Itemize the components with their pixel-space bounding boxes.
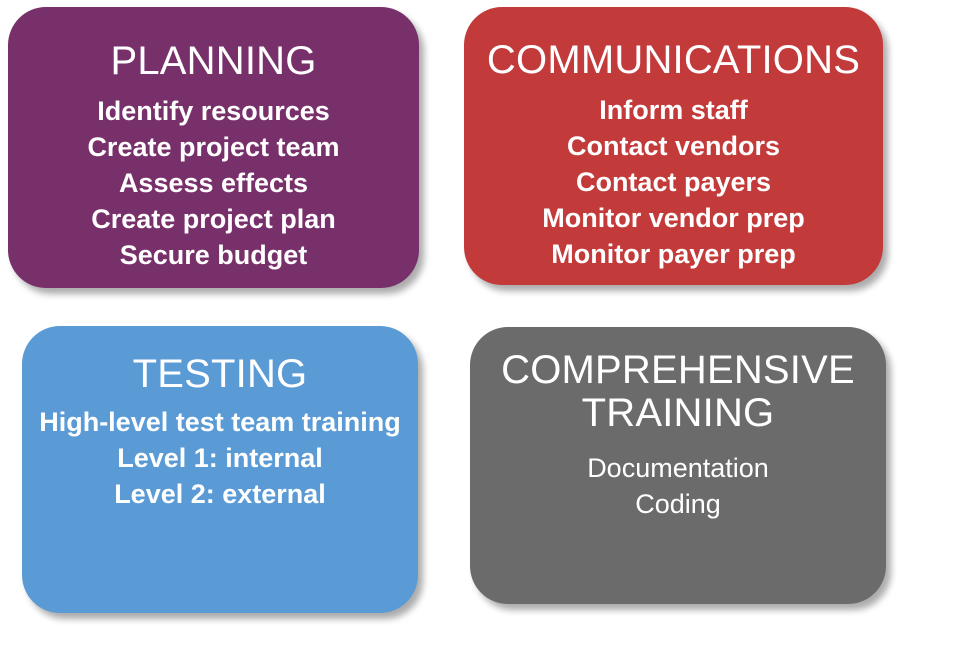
list-item: Create project plan [8, 202, 419, 238]
card-planning-title: PLANNING [8, 40, 419, 83]
list-item: Assess effects [8, 166, 419, 202]
list-item: Monitor payer prep [464, 237, 883, 273]
list-item: Contact payers [464, 165, 883, 201]
diagram-canvas: PLANNING Identify resourcesCreate projec… [0, 0, 968, 672]
card-testing-title: TESTING [22, 353, 418, 396]
list-item: Documentation [470, 451, 886, 487]
card-testing-items: High-level test team trainingLevel 1: in… [22, 405, 418, 513]
list-item: Secure budget [8, 238, 419, 274]
card-communications[interactable]: COMMUNICATIONS Inform staffContact vendo… [464, 7, 883, 285]
list-item: High-level test team training [22, 405, 418, 441]
list-item: Inform staff [464, 93, 883, 129]
card-communications-items: Inform staffContact vendorsContact payer… [464, 93, 883, 273]
list-item: Level 2: external [22, 477, 418, 513]
card-testing[interactable]: TESTING High-level test team trainingLev… [22, 326, 418, 613]
card-communications-title: COMMUNICATIONS [464, 39, 883, 82]
list-item: Level 1: internal [22, 441, 418, 477]
card-comprehensive-training-title: COMPREHENSIVE TRAINING [470, 349, 886, 435]
card-planning-items: Identify resourcesCreate project teamAss… [8, 94, 419, 274]
list-item: Create project team [8, 130, 419, 166]
list-item: Monitor vendor prep [464, 201, 883, 237]
card-comprehensive-training[interactable]: COMPREHENSIVE TRAINING DocumentationCodi… [470, 327, 886, 604]
card-planning[interactable]: PLANNING Identify resourcesCreate projec… [8, 7, 419, 288]
list-item: Contact vendors [464, 129, 883, 165]
card-comprehensive-training-items: DocumentationCoding [470, 451, 886, 523]
list-item: Coding [470, 487, 886, 523]
list-item: Identify resources [8, 94, 419, 130]
